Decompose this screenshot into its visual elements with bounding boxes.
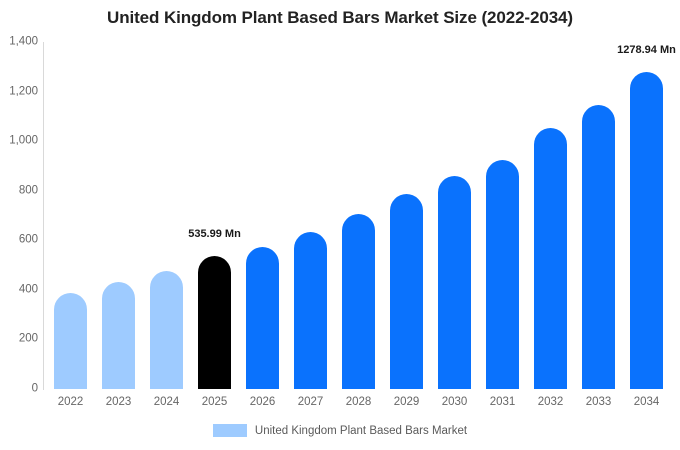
bar-slot — [246, 42, 279, 389]
bar-slot — [342, 42, 375, 389]
x-axis-tick-2030: 2030 — [431, 397, 479, 409]
y-axis-tick: 1,400 — [2, 36, 38, 48]
x-axis-tick-2024: 2024 — [143, 397, 191, 409]
bar-value-label-2025: 535.99 Mn — [188, 229, 241, 240]
bar-slot — [486, 42, 519, 389]
bar-2023[interactable] — [102, 282, 135, 389]
bar-2025[interactable] — [198, 256, 231, 389]
chart-title: United Kingdom Plant Based Bars Market S… — [0, 8, 680, 28]
bar-slot — [534, 42, 567, 389]
y-axis: 02004006008001,0001,2001,400 — [0, 42, 38, 389]
x-axis-tick-2025: 2025 — [191, 397, 239, 409]
x-axis-tick-2022: 2022 — [47, 397, 95, 409]
plot-area: 535.99 Mn1278.94 Mn — [43, 42, 680, 389]
bar-slot: 535.99 Mn — [198, 42, 231, 389]
y-axis-tick: 800 — [2, 185, 38, 197]
x-axis-tick-2032: 2032 — [527, 397, 575, 409]
x-axis: 2022202320242025202620272028202920302031… — [43, 392, 680, 412]
bar-slot — [390, 42, 423, 389]
bar-2028[interactable] — [342, 214, 375, 389]
bar-2034[interactable] — [630, 72, 663, 389]
bar-2030[interactable] — [438, 176, 471, 389]
bar-value-label-2034: 1278.94 Mn — [617, 45, 676, 56]
bar-2026[interactable] — [246, 247, 279, 389]
bar-slot — [294, 42, 327, 389]
y-axis-tick: 0 — [2, 383, 38, 395]
y-axis-tick: 200 — [2, 334, 38, 346]
bar-2024[interactable] — [150, 271, 183, 389]
bar-slot — [150, 42, 183, 389]
bar-2027[interactable] — [294, 232, 327, 389]
bar-2032[interactable] — [534, 128, 567, 389]
x-axis-tick-2023: 2023 — [95, 397, 143, 409]
bar-chart: United Kingdom Plant Based Bars Market S… — [0, 0, 680, 450]
y-axis-tick: 1,000 — [2, 135, 38, 147]
bar-slot — [54, 42, 87, 389]
y-axis-tick: 600 — [2, 235, 38, 247]
bar-slot — [102, 42, 135, 389]
x-axis-tick-2031: 2031 — [479, 397, 527, 409]
bar-slot: 1278.94 Mn — [630, 42, 663, 389]
bar-2022[interactable] — [54, 293, 87, 389]
legend-label: United Kingdom Plant Based Bars Market — [255, 425, 467, 437]
bar-2029[interactable] — [390, 194, 423, 389]
chart-legend: United Kingdom Plant Based Bars Market — [0, 424, 680, 437]
y-axis-tick: 1,200 — [2, 86, 38, 98]
x-axis-tick-2034: 2034 — [623, 397, 671, 409]
bar-slot — [438, 42, 471, 389]
bar-slot — [582, 42, 615, 389]
x-axis-tick-2027: 2027 — [287, 397, 335, 409]
x-axis-tick-2028: 2028 — [335, 397, 383, 409]
x-axis-tick-2029: 2029 — [383, 397, 431, 409]
y-axis-tick: 400 — [2, 284, 38, 296]
bar-2031[interactable] — [486, 160, 519, 389]
x-axis-tick-2033: 2033 — [575, 397, 623, 409]
x-axis-tick-2026: 2026 — [239, 397, 287, 409]
bar-2033[interactable] — [582, 105, 615, 389]
legend-swatch-united-kingdom-plant-based-bars-market — [213, 424, 247, 437]
